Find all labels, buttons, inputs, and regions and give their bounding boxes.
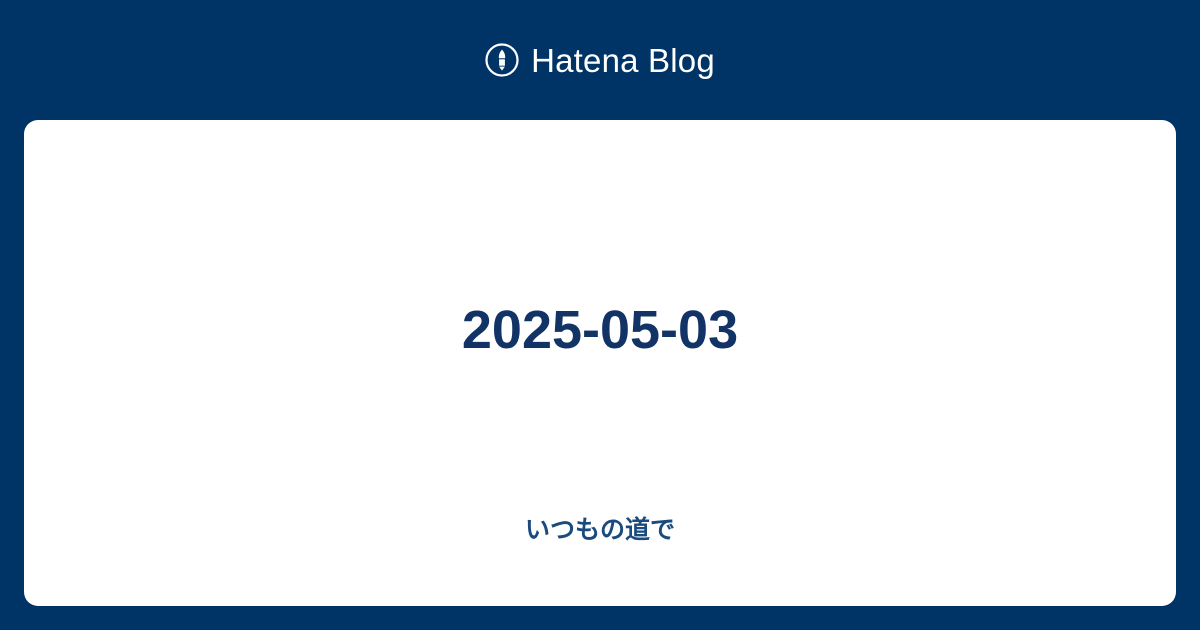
hatena-blog-pen-icon (485, 43, 519, 77)
entry-title: 2025-05-03 (24, 298, 1176, 363)
content-card: 2025-05-03 いつもの道で (24, 120, 1176, 606)
blog-title: いつもの道で (24, 510, 1176, 546)
ogp-card: Hatena Blog 2025-05-03 いつもの道で (0, 0, 1200, 630)
brand-name: Hatena Blog (531, 44, 715, 77)
brand-header: Hatena Blog (0, 0, 1200, 120)
